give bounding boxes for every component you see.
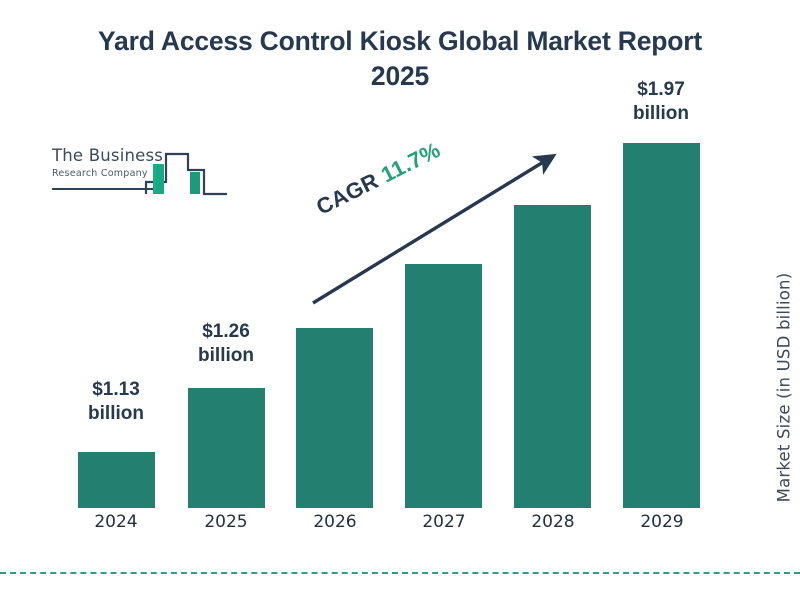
y-axis-label: Market Size (in USD billion): [775, 238, 794, 538]
x-tick-2024: 2024: [66, 512, 166, 532]
bar-value-2029: $1.97 billion: [601, 78, 721, 127]
bar-2025[interactable]: [188, 388, 265, 508]
x-tick-2025: 2025: [176, 512, 276, 532]
bar-value-2024: $1.13 billion: [56, 378, 176, 427]
x-tick-2029: 2029: [612, 512, 712, 532]
bar-value-2025: $1.26 billion: [166, 320, 286, 369]
bar-2029[interactable]: [623, 143, 700, 508]
x-tick-2028: 2028: [503, 512, 603, 532]
cagr-value: 11.7%: [377, 137, 444, 187]
x-tick-2027: 2027: [394, 512, 494, 532]
x-tick-2026: 2026: [285, 512, 385, 532]
chart-canvas: Yard Access Control Kiosk Global Market …: [0, 0, 800, 600]
cagr-label: CAGR: [312, 168, 382, 220]
cagr-annotation: CAGR 11.7%: [312, 137, 444, 221]
footer-divider: [0, 572, 800, 574]
bar-2027[interactable]: [405, 264, 482, 508]
bar-2024[interactable]: [78, 452, 155, 508]
plot-area: $1.13 billion $1.26 billion $1.97 billio…: [0, 0, 800, 600]
bar-2028[interactable]: [514, 205, 591, 508]
bar-2026[interactable]: [296, 328, 373, 508]
